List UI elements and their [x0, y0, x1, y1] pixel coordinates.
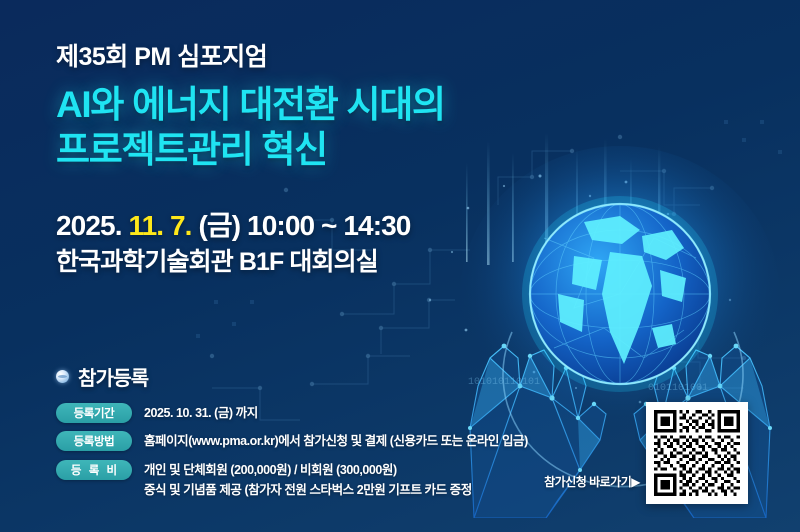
poster-headline: AI와 에너지 대전환 시대의 프로젝트관리 혁신: [56, 82, 526, 172]
globe-bullet-icon: [56, 370, 69, 383]
registration-row-method: 등록방법 홈페이지(www.pma.or.kr)에서 참가신청 및 결제 (신용…: [56, 430, 576, 451]
qr-block[interactable]: 참가신청 바로가기▶: [646, 402, 748, 504]
qr-code-icon[interactable]: [651, 407, 743, 499]
headline-line-2: 프로젝트관리 혁신: [56, 127, 526, 172]
date-prefix: 2025.: [56, 210, 128, 241]
svg-text:0101101001: 0101101001: [648, 383, 708, 394]
event-datetime: 2025. 11. 7. (금) 10:00 ~ 14:30: [56, 208, 526, 245]
registration-fee-label: 등 록 비: [56, 460, 132, 480]
registration-title-label: 참가등록: [78, 362, 148, 391]
date-highlight: 11. 7.: [128, 210, 191, 241]
registration-fee-value-group: 개인 및 단체회원 (200,000원) / 비회원 (300,000원) 중식…: [144, 459, 472, 501]
event-venue: 한국과학기술회관 B1F 대회의실: [56, 246, 526, 279]
registration-fee-note: 중식 및 기념품 제공 (참가자 전원 스타벅스 2만원 기프트 카드 증정: [144, 480, 472, 500]
registration-row-fee: 등 록 비 개인 및 단체회원 (200,000원) / 비회원 (300,00…: [56, 459, 576, 501]
qr-code-card[interactable]: [646, 402, 748, 504]
registration-row-period: 등록기간 2025. 10. 31. (금) 까지: [56, 402, 576, 423]
registration-period-value: 2025. 10. 31. (금) 까지: [144, 402, 258, 423]
registration-period-label: 등록기간: [56, 403, 132, 423]
date-suffix: (금) 10:00 ~ 14:30: [192, 210, 411, 241]
registration-method-label: 등록방법: [56, 431, 132, 451]
poster-text-block: 제35회 PM 심포지엄 AI와 에너지 대전환 시대의 프로젝트관리 혁신 2…: [56, 44, 526, 278]
headline-line-1: AI와 에너지 대전환 시대의: [56, 84, 445, 125]
registration-method-value[interactable]: 홈페이지(www.pma.or.kr)에서 참가신청 및 결제 (신용카드 또는…: [144, 430, 528, 451]
poster-kicker: 제35회 PM 심포지엄: [56, 44, 526, 72]
registration-section-title: 참가등록: [56, 362, 576, 391]
event-poster: 101010110101 0101101001 제35회 PM 심포지엄 AI와…: [0, 0, 800, 532]
registration-fee-value: 개인 및 단체회원 (200,000원) / 비회원 (300,000원): [144, 463, 397, 477]
registration-block: 참가등록 등록기간 2025. 10. 31. (금) 까지 등록방법 홈페이지…: [56, 362, 576, 507]
qr-caption: 참가신청 바로가기▶: [538, 473, 640, 490]
